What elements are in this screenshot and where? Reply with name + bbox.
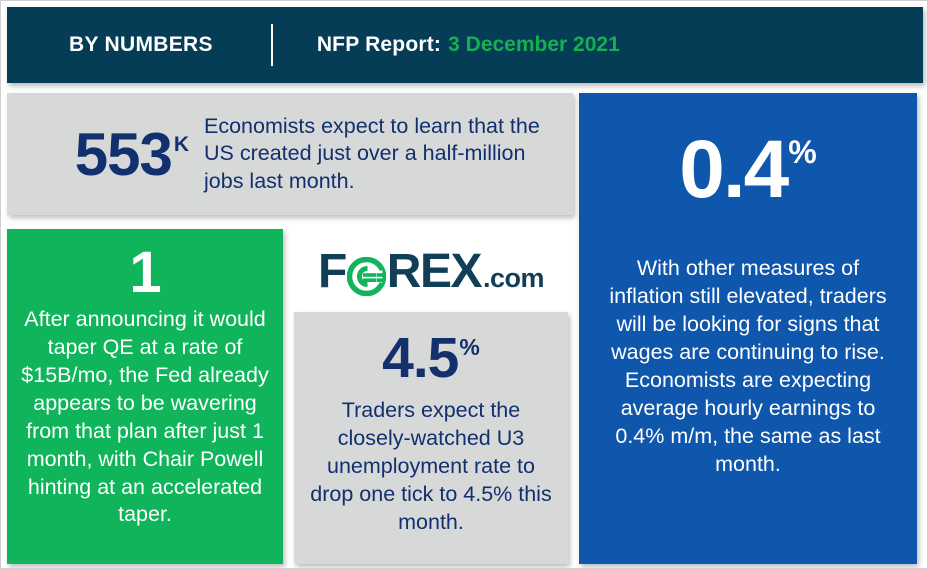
forex-logo-com: .com bbox=[483, 263, 544, 294]
header-divider bbox=[271, 24, 273, 66]
stat-value-earnings: 0.4 bbox=[679, 124, 787, 215]
stat-value-earnings-wrap: 0.4% bbox=[597, 129, 899, 211]
header-report-label: NFP Report: bbox=[317, 33, 441, 57]
stat-unit-earnings: % bbox=[788, 134, 816, 170]
stat-value-unemployment: 4.5 bbox=[382, 326, 458, 390]
header-by-label: BY bbox=[69, 33, 105, 56]
infographic-root: BY NUMBERS NFP Report: 3 December 2021 5… bbox=[0, 0, 928, 569]
forex-logo-row: F REX .com bbox=[318, 244, 544, 299]
stat-description-earnings: With other measures of inflation still e… bbox=[597, 255, 899, 479]
header-numbers-label: NUMBERS bbox=[105, 33, 213, 56]
stat-card-earnings: 0.4% With other measures of inflation st… bbox=[579, 93, 917, 564]
forex-logo-letters-rex: REX bbox=[387, 244, 481, 299]
stat-value-unemployment-wrap: 4.5% bbox=[308, 330, 554, 387]
stat-unit-jobs: K bbox=[174, 133, 189, 156]
stat-description-unemployment: Traders expect the closely-watched U3 un… bbox=[308, 397, 554, 537]
stat-card-unemployment: 4.5% Traders expect the closely-watched … bbox=[294, 312, 568, 564]
forex-logo: F REX .com bbox=[294, 236, 568, 306]
stat-description-jobs: Economists expect to learn that the US c… bbox=[191, 113, 573, 195]
stat-value-taper: 1 bbox=[19, 243, 271, 304]
header-report-date: 3 December 2021 bbox=[448, 33, 620, 57]
euro-circle-icon bbox=[347, 257, 386, 296]
stat-card-jobs: 553K Economists expect to learn that the… bbox=[7, 93, 573, 215]
stat-value-jobs-wrap: 553K bbox=[7, 126, 191, 183]
stat-card-taper: 1 After announcing it would taper QE at … bbox=[7, 229, 283, 564]
forex-logo-letter-f: F bbox=[318, 244, 346, 299]
stat-value-jobs: 553 bbox=[75, 121, 172, 188]
stat-unit-unemployment: % bbox=[459, 334, 479, 360]
header-by-numbers: BY NUMBERS bbox=[69, 33, 213, 57]
stat-description-taper: After announcing it would taper QE at a … bbox=[19, 306, 271, 530]
header-bar: BY NUMBERS NFP Report: 3 December 2021 bbox=[7, 7, 923, 83]
header-content: BY NUMBERS NFP Report: 3 December 2021 bbox=[69, 24, 620, 66]
